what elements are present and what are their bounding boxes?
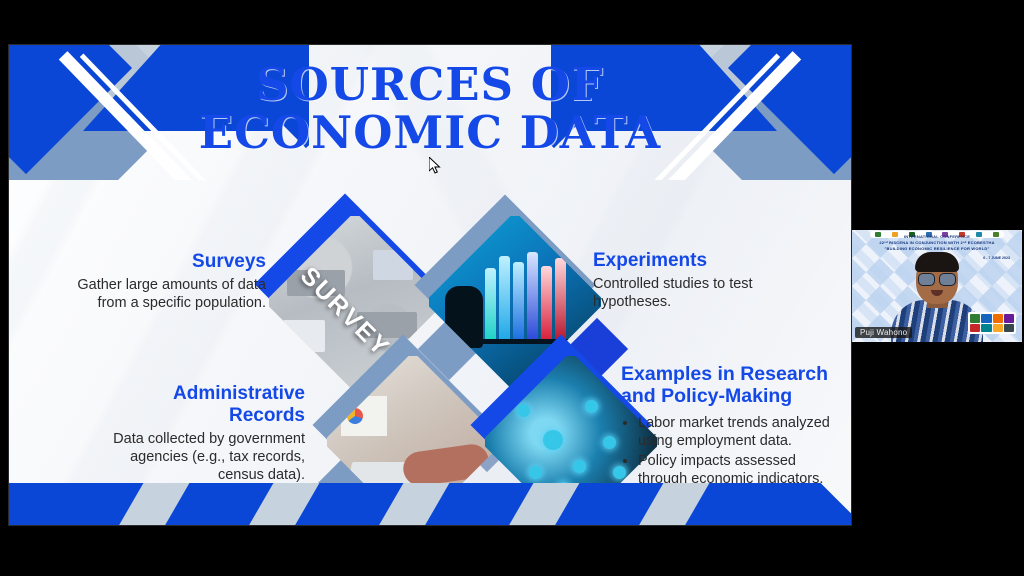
surveys-heading: Surveys [61, 251, 266, 273]
text-block-surveys: Surveys Gather large amounts of data fro… [61, 251, 266, 312]
participant-video-tile[interactable]: INTERNATIONAL CONFERENCE 22ⁿᵈ RISCENA IN… [852, 230, 1022, 342]
eyeglasses-icon [918, 273, 956, 284]
slide-bottom-band [9, 483, 851, 525]
experiments-heading: Experiments [593, 250, 823, 272]
examples-heading: Examples in Research and Policy-Making [621, 363, 846, 408]
text-block-examples: Examples in Research and Policy-Making L… [621, 363, 846, 490]
text-block-administrative-records: Administrative Records Data collected by… [105, 383, 305, 484]
examples-heading-line-1: Examples in Research [621, 363, 828, 385]
mouse-pointer [429, 157, 441, 175]
slide-title-line-2: ECONOMIC DATA [9, 109, 851, 157]
surveys-body: Gather large amounts of data from a spec… [61, 276, 266, 312]
administrative-heading-line-2: Records [229, 405, 305, 426]
administrative-heading: Administrative Records [105, 383, 305, 427]
conference-date: 6 - 7 JUNE 2023 [983, 256, 1010, 260]
administrative-heading-line-1: Administrative [173, 383, 305, 404]
background-icon-grid [968, 312, 1016, 334]
experiments-body: Controlled studies to test hypotheses. [593, 275, 823, 311]
text-block-experiments: Experiments Controlled studies to test h… [593, 250, 823, 311]
virtual-background-text: INTERNATIONAL CONFERENCE 22ⁿᵈ RISCENA IN… [852, 234, 1022, 251]
slide-title: SOURCES OF ECONOMIC DATA [9, 61, 851, 156]
slide-title-line-1: SOURCES OF [9, 61, 851, 109]
administrative-body: Data collected by government agencies (e… [105, 430, 305, 484]
presentation-slide[interactable]: SOURCES OF ECONOMIC DATA SURVEY [8, 44, 852, 526]
conference-title-line-3: "BUILDING ECONOMIC RESILIENCE FOR WORLD" [852, 246, 1022, 252]
examples-heading-line-2: and Policy-Making [621, 385, 792, 407]
screen-share-view: SOURCES OF ECONOMIC DATA SURVEY [0, 0, 1024, 576]
list-item: Labor market trends analyzed using emplo… [638, 414, 846, 450]
examples-bullet-list: Labor market trends analyzed using emplo… [621, 414, 846, 489]
participant-name-label: Puji Wahono [855, 327, 912, 338]
